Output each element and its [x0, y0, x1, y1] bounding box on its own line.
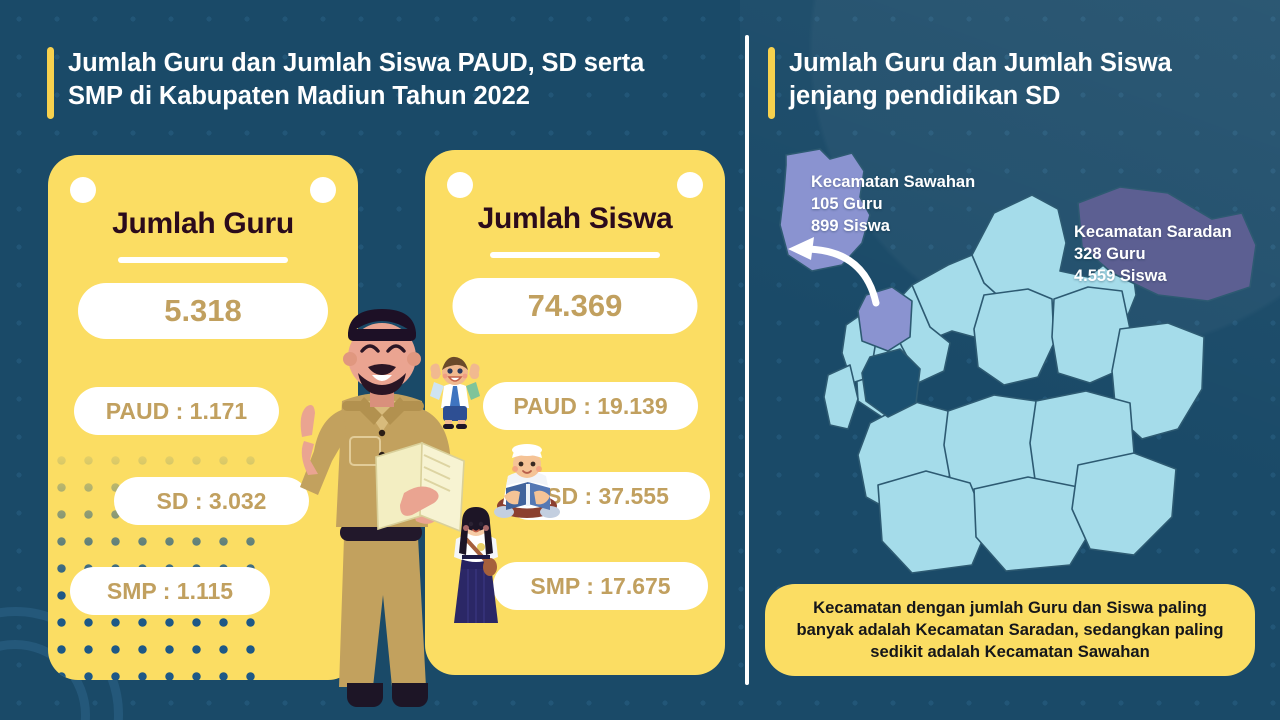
card-dot-pattern: [48, 420, 263, 680]
title-accent-bar: [47, 47, 54, 119]
guru-paud-row: PAUD : 1.171: [74, 387, 279, 435]
heading-underline: [118, 257, 288, 263]
title-accent-bar: [768, 47, 775, 119]
right-panel-title: Jumlah Guru dan Jumlah Siswa jenjang pen…: [768, 47, 1172, 119]
punch-hole-icon: [677, 172, 703, 198]
card-heading: Jumlah Guru: [48, 207, 358, 241]
schoolgirl-illustration: [448, 505, 504, 625]
siswa-smp-row: SMP : 17.675: [493, 562, 708, 610]
siswa-paud-row: PAUD : 19.139: [483, 382, 698, 430]
left-panel-title: Jumlah Guru dan Jumlah Siswa PAUD, SD se…: [47, 47, 644, 119]
district-area: [824, 365, 858, 429]
heading-underline: [490, 252, 660, 258]
guru-smp-row: SMP : 1.115: [70, 567, 270, 615]
punch-hole-icon: [70, 177, 96, 203]
cheering-boy-illustration: [424, 352, 486, 430]
district-area: [1072, 453, 1176, 555]
card-heading: Jumlah Siswa: [425, 202, 725, 236]
left-title-text: Jumlah Guru dan Jumlah Siswa PAUD, SD se…: [68, 47, 644, 112]
panel-divider: [745, 35, 749, 685]
siswa-total-value: 74.369: [453, 278, 698, 334]
map-label-sawahan: Kecamatan Sawahan 105 Guru 899 Siswa: [811, 172, 975, 237]
punch-hole-icon: [310, 177, 336, 203]
district-area: [974, 289, 1054, 385]
right-title-text: Jumlah Guru dan Jumlah Siswa jenjang pen…: [789, 47, 1172, 112]
map-label-saradan: Kecamatan Saradan 328 Guru 4.559 Siswa: [1074, 222, 1232, 287]
infographic-canvas: Jumlah Guru dan Jumlah Siswa PAUD, SD se…: [0, 0, 1280, 720]
district-area: [878, 471, 988, 573]
district-sawahan-highlight: [858, 287, 912, 351]
summary-callout-text: Kecamatan dengan jumlah Guru dan Siswa p…: [783, 597, 1237, 664]
summary-callout: Kecamatan dengan jumlah Guru dan Siswa p…: [765, 584, 1255, 676]
punch-hole-icon: [447, 172, 473, 198]
